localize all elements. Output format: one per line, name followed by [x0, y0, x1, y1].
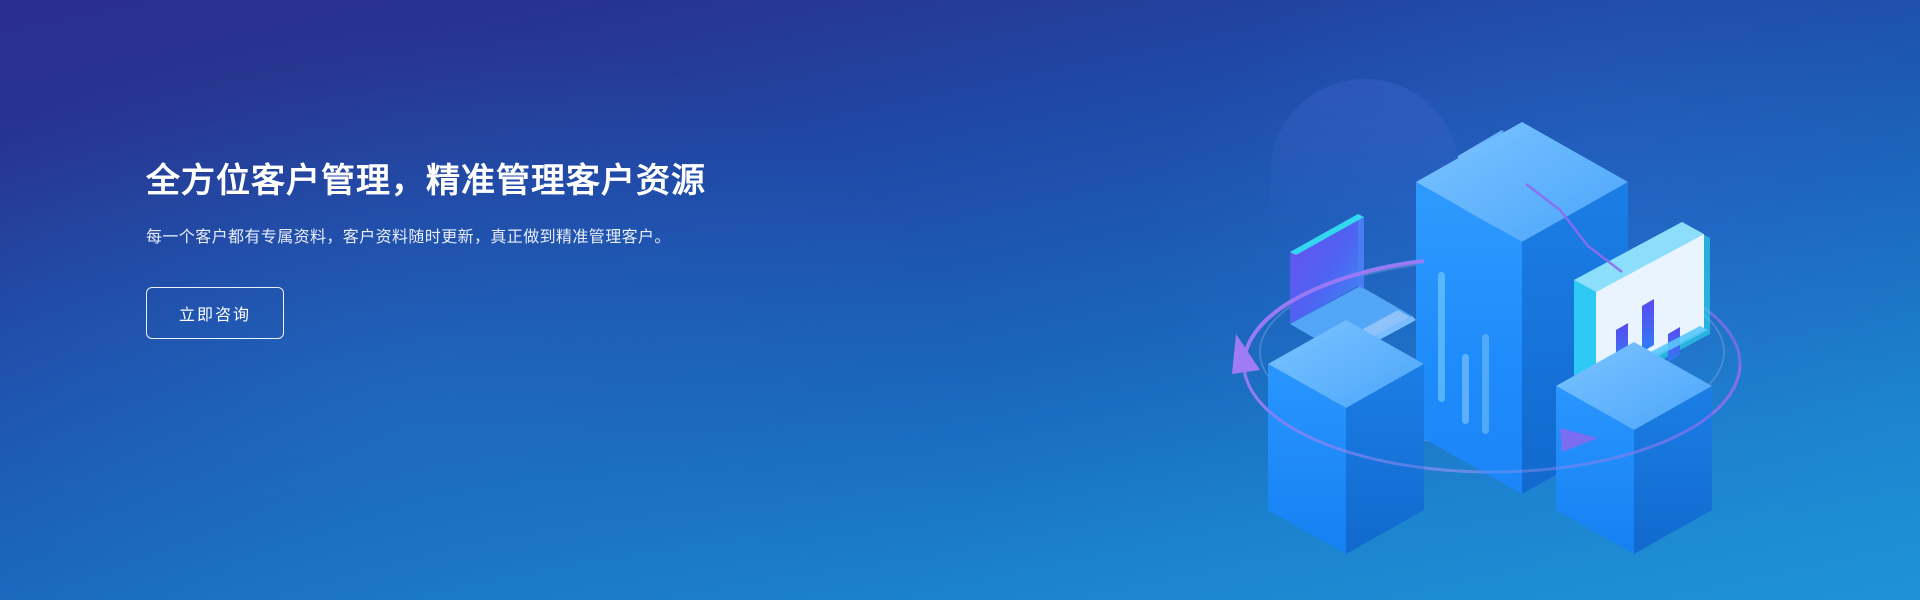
hero-subtitle: 每一个客户都有专属资料，客户资料随时更新，真正做到精准管理客户。: [146, 225, 726, 251]
hero-banner: 全方位客户管理，精准管理客户资源 每一个客户都有专属资料，客户资料随时更新，真正…: [0, 0, 1920, 600]
page-title: 全方位客户管理，精准管理客户资源: [146, 160, 786, 203]
hero-illustration: [1230, 34, 1750, 564]
consult-now-button[interactable]: 立即咨询: [146, 287, 284, 339]
orbit-arrow-left: [1232, 334, 1260, 374]
hero-copy-block: 全方位客户管理，精准管理客户资源 每一个客户都有专属资料，客户资料随时更新，真正…: [146, 160, 786, 339]
